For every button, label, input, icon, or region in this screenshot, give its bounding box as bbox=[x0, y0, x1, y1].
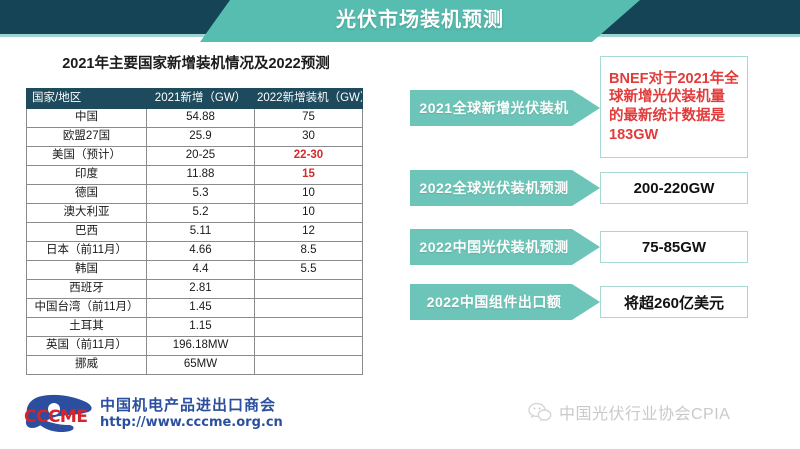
cell-2022: 12 bbox=[255, 223, 363, 242]
cell-2021: 65MW bbox=[147, 356, 255, 375]
cell-2022: 75 bbox=[255, 109, 363, 128]
table-row: 德国5.310 bbox=[27, 185, 363, 204]
table-title: 2021年主要国家新增装机情况及2022预测 bbox=[26, 52, 366, 73]
table-row: 英国（前11月）196.18MW bbox=[27, 337, 363, 356]
table-row: 中国54.8875 bbox=[27, 109, 363, 128]
cell-country: 欧盟27国 bbox=[27, 128, 147, 147]
table-row: 巴西5.1112 bbox=[27, 223, 363, 242]
cccme-logo: CCCME 中国机电产品进出口商会 http://www.cccme.org.c… bbox=[18, 390, 288, 438]
cell-2021: 1.15 bbox=[147, 318, 255, 337]
cell-country: 西班牙 bbox=[27, 280, 147, 299]
cell-2022: 10 bbox=[255, 204, 363, 223]
cell-2021: 20-25 bbox=[147, 147, 255, 166]
cpia-watermark: 中国光伏行业协会CPIA bbox=[528, 400, 730, 424]
cell-country: 美国（预计） bbox=[27, 147, 147, 166]
cell-2022 bbox=[255, 280, 363, 299]
cell-2022: 10 bbox=[255, 185, 363, 204]
cell-country: 挪威 bbox=[27, 356, 147, 375]
cell-2021: 1.45 bbox=[147, 299, 255, 318]
page-title: 光伏市场装机预测 bbox=[200, 0, 640, 34]
forecast-arrow-4[interactable]: 2022中国组件出口额 bbox=[410, 284, 600, 320]
forecast-value-box-4: 将超260亿美元 bbox=[600, 286, 748, 318]
table-body: 中国54.8875欧盟27国25.930美国（预计）20-2522-30印度11… bbox=[27, 109, 363, 375]
cell-2022 bbox=[255, 299, 363, 318]
table-row: 西班牙2.81 bbox=[27, 280, 363, 299]
cell-2022: 22-30 bbox=[255, 147, 363, 166]
cell-country: 英国（前11月） bbox=[27, 337, 147, 356]
table-row: 中国台湾（前11月）1.45 bbox=[27, 299, 363, 318]
forecast-value-box-2: 200-220GW bbox=[600, 172, 748, 204]
table-row: 印度11.8815 bbox=[27, 166, 363, 185]
forecast-value-text-4: 将超260亿美元 bbox=[624, 292, 724, 313]
cell-country: 印度 bbox=[27, 166, 147, 185]
cell-2021: 54.88 bbox=[147, 109, 255, 128]
cccme-wordmark: CCCME bbox=[24, 407, 87, 427]
forecast-value-text-3: 75-85GW bbox=[642, 239, 706, 256]
table-row: 日本（前11月）4.668.5 bbox=[27, 242, 363, 261]
forecast-value-text-1: BNEF对于2021年全球新增光伏装机量的最新统计数据是183GW bbox=[609, 70, 739, 144]
cell-2022 bbox=[255, 318, 363, 337]
forecast-arrow-label-3: 2022中国光伏装机预测 bbox=[419, 237, 568, 257]
cell-2021: 25.9 bbox=[147, 128, 255, 147]
table-row: 韩国4.45.5 bbox=[27, 261, 363, 280]
cell-2021: 2.81 bbox=[147, 280, 255, 299]
cell-2021: 5.2 bbox=[147, 204, 255, 223]
cell-country: 澳大利亚 bbox=[27, 204, 147, 223]
cell-country: 日本（前11月） bbox=[27, 242, 147, 261]
forecast-arrow-3[interactable]: 2022中国光伏装机预测 bbox=[410, 229, 600, 265]
cell-2022 bbox=[255, 356, 363, 375]
installation-table: 国家/地区 2021新增（GW） 2022新增装机（GW） 中国54.8875欧… bbox=[26, 88, 363, 375]
cell-2021: 4.4 bbox=[147, 261, 255, 280]
column-header-2021: 2021新增（GW） bbox=[147, 89, 255, 109]
cell-country: 土耳其 bbox=[27, 318, 147, 337]
column-header-2022: 2022新增装机（GW） bbox=[255, 89, 363, 109]
forecast-arrow-1[interactable]: 2021全球新增光伏装机 bbox=[410, 90, 600, 126]
cccme-name-cn: 中国机电产品进出口商会 bbox=[100, 394, 276, 415]
forecast-arrow-label-4: 2022中国组件出口额 bbox=[427, 292, 562, 312]
table-header-row: 国家/地区 2021新增（GW） 2022新增装机（GW） bbox=[27, 89, 363, 109]
table-row: 土耳其1.15 bbox=[27, 318, 363, 337]
cell-country: 韩国 bbox=[27, 261, 147, 280]
cpia-name: 中国光伏行业协会CPIA bbox=[559, 400, 730, 424]
cell-2022: 15 bbox=[255, 166, 363, 185]
cell-country: 中国台湾（前11月） bbox=[27, 299, 147, 318]
table-row: 挪威65MW bbox=[27, 356, 363, 375]
cell-country: 巴西 bbox=[27, 223, 147, 242]
table-row: 澳大利亚5.210 bbox=[27, 204, 363, 223]
forecast-arrow-label-1: 2021全球新增光伏装机 bbox=[419, 98, 568, 118]
cell-2021: 11.88 bbox=[147, 166, 255, 185]
table-header: 国家/地区 2021新增（GW） 2022新增装机（GW） bbox=[27, 89, 363, 109]
table-row: 美国（预计）20-2522-30 bbox=[27, 147, 363, 166]
cell-2022: 5.5 bbox=[255, 261, 363, 280]
cell-2021: 5.11 bbox=[147, 223, 255, 242]
forecast-arrow-2[interactable]: 2022全球光伏装机预测 bbox=[410, 170, 600, 206]
cell-2022 bbox=[255, 337, 363, 356]
forecast-value-text-2: 200-220GW bbox=[634, 180, 715, 197]
forecast-value-box-1: BNEF对于2021年全球新增光伏装机量的最新统计数据是183GW bbox=[600, 56, 748, 158]
cccme-url[interactable]: http://www.cccme.org.cn bbox=[100, 415, 283, 430]
cell-2022: 8.5 bbox=[255, 242, 363, 261]
cell-2021: 196.18MW bbox=[147, 337, 255, 356]
cell-2022: 30 bbox=[255, 128, 363, 147]
wechat-icon bbox=[528, 402, 552, 422]
table-row: 欧盟27国25.930 bbox=[27, 128, 363, 147]
cell-country: 中国 bbox=[27, 109, 147, 128]
forecast-value-box-3: 75-85GW bbox=[600, 231, 748, 263]
forecast-arrow-label-2: 2022全球光伏装机预测 bbox=[419, 178, 568, 198]
cell-country: 德国 bbox=[27, 185, 147, 204]
cell-2021: 5.3 bbox=[147, 185, 255, 204]
column-header-country: 国家/地区 bbox=[27, 89, 147, 109]
cell-2021: 4.66 bbox=[147, 242, 255, 261]
